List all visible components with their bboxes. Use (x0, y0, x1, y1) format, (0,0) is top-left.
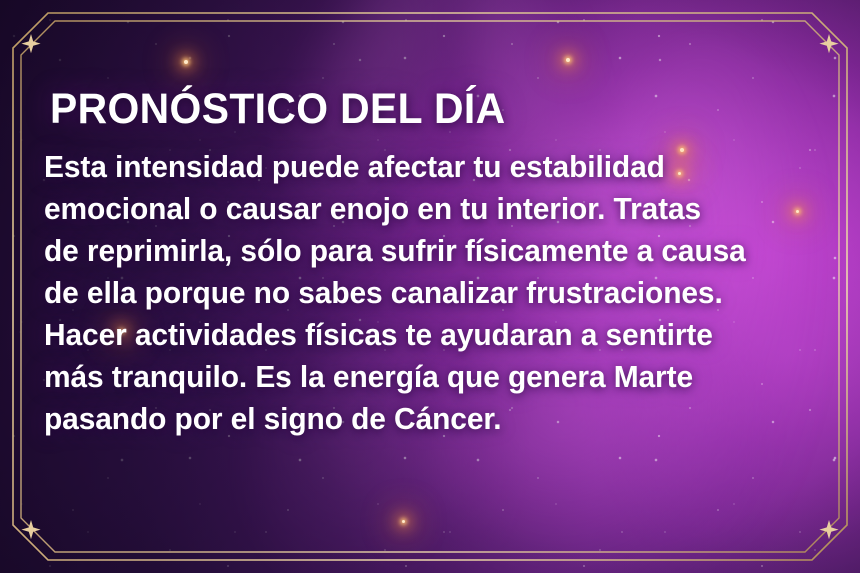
page-title: PRONÓSTICO DEL DÍA (50, 88, 766, 132)
glow-star-icon (566, 58, 570, 62)
glow-star-icon (184, 60, 188, 64)
forecast-text-block: PRONÓSTICO DEL DÍA Esta intensidad puede… (44, 88, 804, 440)
forecast-line: emocional o causar enojo en tu interior.… (44, 188, 777, 230)
forecast-body: Esta intensidad puede afectar tu estabil… (44, 146, 804, 440)
forecast-line: Esta intensidad puede afectar tu estabil… (44, 146, 777, 188)
horoscope-forecast-card: PRONÓSTICO DEL DÍA Esta intensidad puede… (0, 0, 860, 573)
forecast-line: de reprimirla, sólo para sufrir físicame… (44, 230, 777, 272)
forecast-line: más tranquilo. Es la energía que genera … (44, 356, 777, 398)
forecast-line: de ella porque no sabes canalizar frustr… (44, 272, 777, 314)
glow-star-icon (402, 520, 405, 523)
forecast-line: pasando por el signo de Cáncer. (44, 398, 777, 440)
forecast-line: Hacer actividades físicas te ayudaran a … (44, 314, 777, 356)
